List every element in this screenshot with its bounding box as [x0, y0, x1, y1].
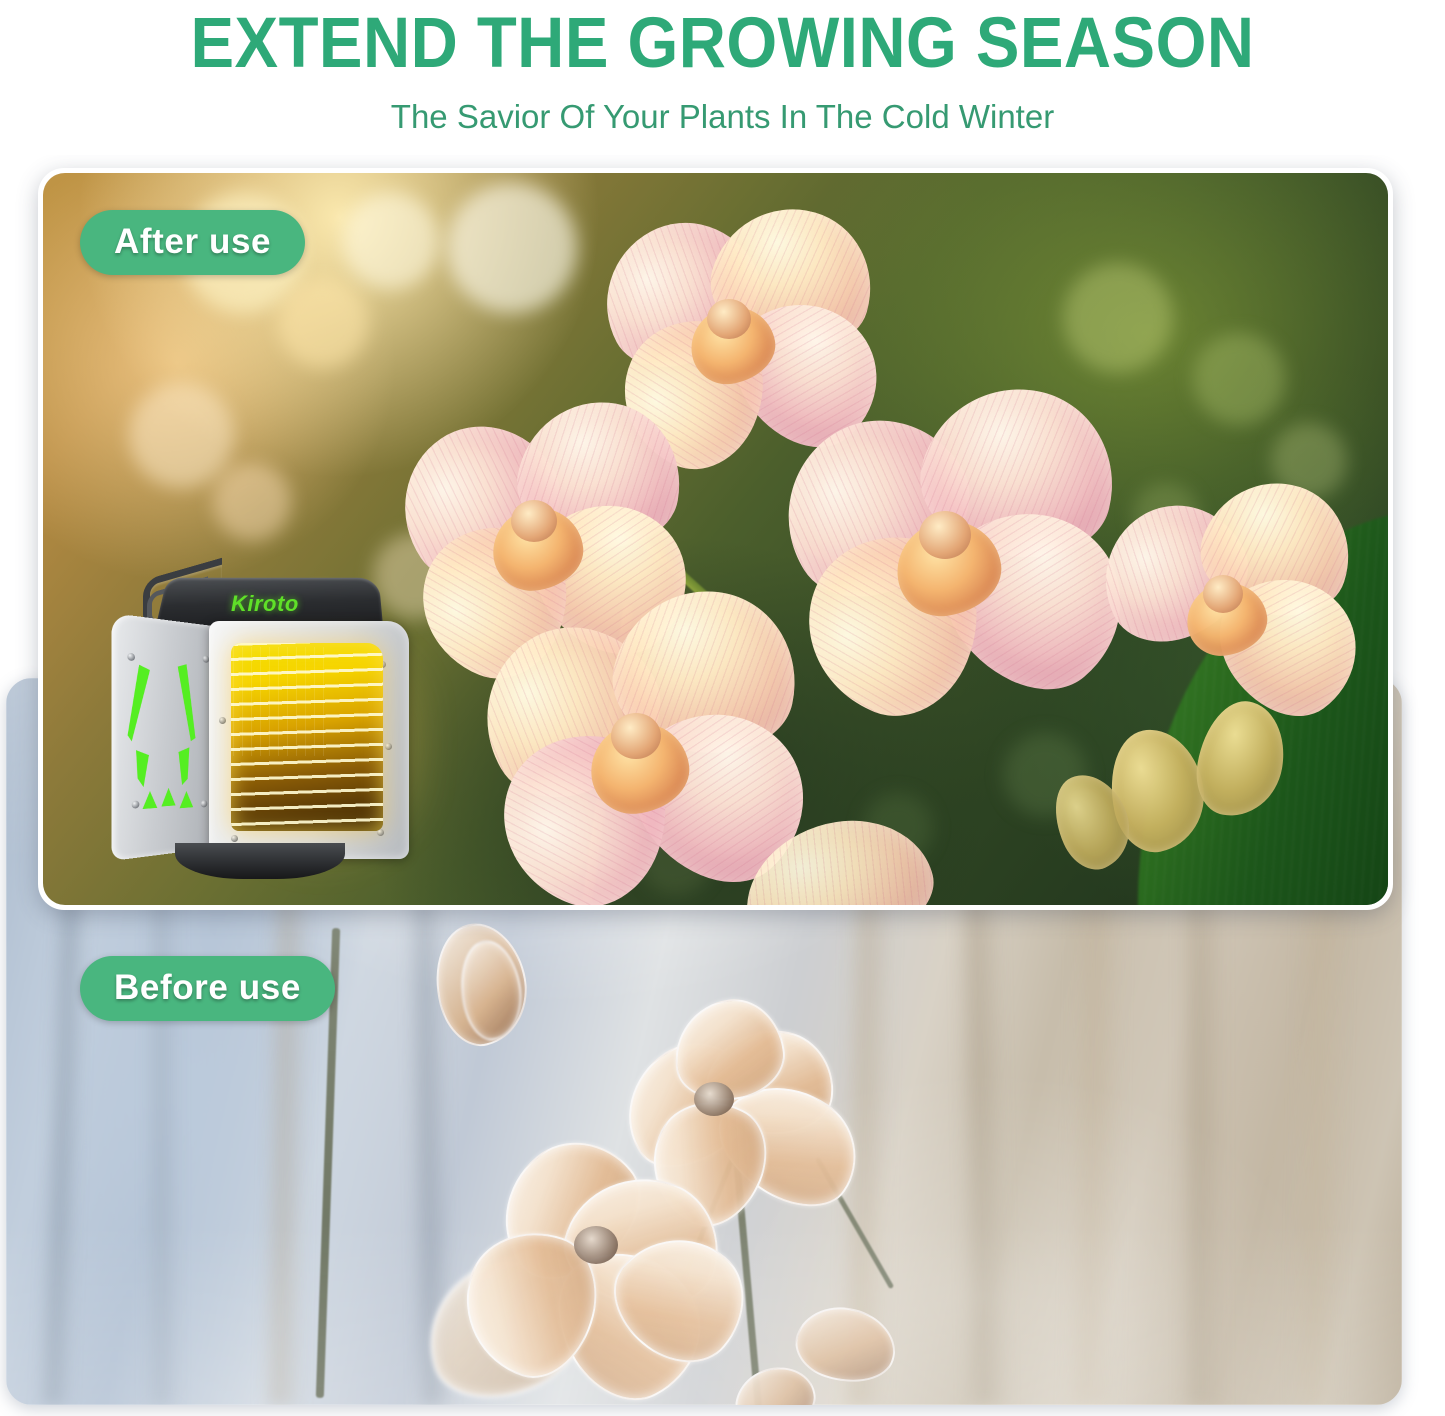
heater-decal-right-mid — [178, 747, 190, 785]
page-title: EXTEND THE GROWING SEASON — [58, 4, 1387, 84]
heater-decal-right-long — [176, 663, 198, 741]
heater-decal-left-long — [124, 665, 151, 742]
product-heater: Kiroto — [113, 565, 423, 895]
heater-screw — [127, 653, 135, 661]
heater-decal-tri-1 — [143, 791, 158, 809]
heater-screw — [231, 835, 238, 842]
after-use-image-panel: Kiroto — [38, 168, 1393, 910]
heater-grille — [231, 643, 383, 831]
after-use-image-inner: Kiroto — [43, 173, 1388, 905]
page-subtitle: The Savior Of Your Plants In The Cold Wi… — [0, 97, 1445, 137]
heater-decal-tri-3 — [180, 791, 194, 809]
heater-side-panel — [112, 613, 221, 861]
badge-before-use: Before use — [80, 956, 335, 1021]
heater-decal-tri-2 — [161, 788, 175, 807]
heater-screw — [219, 717, 226, 724]
heater-base — [175, 843, 345, 879]
product-brand-logo: Kiroto — [231, 591, 299, 617]
heater-screw — [385, 743, 392, 750]
heater-screw — [132, 801, 140, 809]
heater-decal-left-mid — [136, 750, 149, 788]
header: EXTEND THE GROWING SEASON The Savior Of … — [0, 0, 1445, 155]
badge-after-use: After use — [80, 210, 305, 275]
heater-screw — [201, 800, 208, 808]
